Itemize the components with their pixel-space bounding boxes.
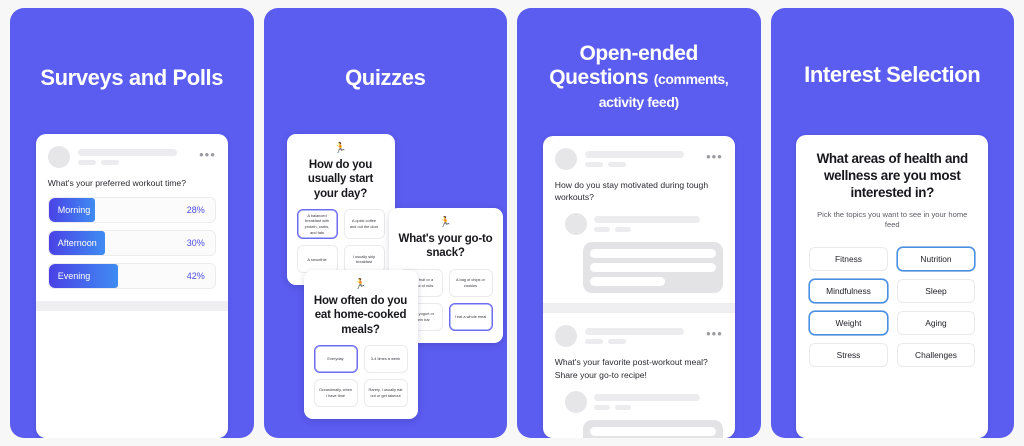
skeleton-name: [594, 394, 700, 401]
interest-chip-weight[interactable]: Weight: [809, 311, 888, 335]
quiz-option[interactable]: Rarely, I usually eat out or get takeout: [364, 379, 408, 407]
poll-options: Morning 28% Afternoon 30% Evening 42%: [36, 189, 228, 301]
poll-option-percent: 28%: [187, 205, 215, 215]
comment-header: [565, 391, 723, 413]
runner-icon: 🏃: [314, 280, 408, 290]
skeleton-text-line: [590, 249, 716, 258]
skeleton-tag: [615, 227, 631, 232]
skeleton-tags: [594, 405, 723, 410]
poll-option-label: Afternoon: [49, 238, 97, 248]
skeleton-tag: [615, 405, 631, 410]
survey-phone-mock: ••• What's your preferred workout time? …: [36, 134, 228, 438]
panel-title-quizzes: Quizzes: [337, 66, 433, 91]
comment-meta: [594, 216, 723, 232]
comment-header: [565, 213, 723, 235]
interest-chip-mindfulness[interactable]: Mindfulness: [809, 279, 888, 303]
poll-option-percent: 30%: [187, 238, 215, 248]
quiz-options: A balanced breakfast with protein, carbs…: [297, 209, 385, 274]
interest-chip-stress[interactable]: Stress: [809, 343, 888, 367]
feed-divider: [36, 301, 228, 311]
skeleton-text-line: [590, 263, 716, 272]
skeleton-name: [78, 149, 178, 156]
quiz-option[interactable]: A bag of chips or cookies: [449, 269, 493, 297]
interest-chip-sleep[interactable]: Sleep: [897, 279, 976, 303]
feed-post: ••• How do you stay motivated during tou…: [543, 136, 735, 303]
post-header: •••: [543, 313, 735, 347]
comment: [543, 381, 735, 438]
skeleton-tag: [585, 162, 603, 167]
skeleton-tags: [78, 160, 191, 165]
panel-interest-selection: Interest Selection What areas of health …: [771, 8, 1015, 438]
avatar: [48, 146, 70, 168]
quiz-option[interactable]: I eat a whole meal: [449, 303, 493, 331]
skeleton-tags: [585, 162, 698, 167]
feed-post: ••• What's your favorite post-workout me…: [543, 313, 735, 438]
quiz-option[interactable]: A quick coffee and out the door: [344, 209, 385, 240]
skeleton-name: [585, 328, 685, 335]
quiz-card[interactable]: 🏃 How often do you eat home-cooked meals…: [304, 270, 418, 419]
feature-showcase-board: Surveys and Polls ••• What's your prefer…: [0, 0, 1024, 446]
post-question: How do you stay motivated during tough w…: [543, 170, 735, 203]
quiz-card[interactable]: 🏃 How do you usually start your day? A b…: [287, 134, 395, 285]
avatar: [565, 213, 587, 235]
post-meta: [585, 151, 698, 167]
skeleton-text-line: [590, 427, 716, 436]
quiz-option[interactable]: 3-4 times a week: [364, 345, 408, 373]
skeleton-tag: [608, 339, 626, 344]
feed-divider: [543, 303, 735, 313]
interest-content: What areas of health and wellness are yo…: [796, 135, 988, 367]
more-options-icon[interactable]: •••: [706, 150, 723, 169]
skeleton-tag: [101, 160, 119, 165]
interest-chip-challenges[interactable]: Challenges: [897, 343, 976, 367]
skeleton-name: [585, 151, 685, 158]
interest-phone-mock: What areas of health and wellness are yo…: [796, 135, 988, 438]
skeleton-tags: [585, 339, 698, 344]
panel-title-open-ended: Open-ended Questions (comments, activity…: [517, 42, 761, 113]
quiz-question: What's your go-to snack?: [399, 232, 493, 261]
post-header: •••: [543, 136, 735, 170]
interest-chip-grid: Fitness Nutrition Mindfulness Sleep Weig…: [809, 247, 975, 367]
comment-meta: [594, 394, 723, 410]
quiz-question: How often do you eat home-cooked meals?: [314, 294, 408, 337]
interest-chip-aging[interactable]: Aging: [897, 311, 976, 335]
quiz-option[interactable]: Occasionally, when I have time: [314, 379, 358, 407]
feed-phone-mock: ••• How do you stay motivated during tou…: [543, 136, 735, 438]
panel-open-ended-questions: Open-ended Questions (comments, activity…: [517, 8, 761, 438]
runner-icon: 🏃: [297, 144, 385, 154]
avatar: [555, 325, 577, 347]
comment: [543, 203, 735, 293]
panel-surveys-and-polls: Surveys and Polls ••• What's your prefer…: [10, 8, 254, 438]
panel-title-line1: Open-ended: [579, 42, 698, 65]
skeleton-tag: [585, 339, 603, 344]
skeleton-tag: [594, 227, 610, 232]
avatar: [565, 391, 587, 413]
post-question: What's your favorite post-workout meal? …: [543, 347, 735, 380]
quiz-options: Everyday 3-4 times a week Occasionally, …: [314, 345, 408, 407]
quiz-option[interactable]: Everyday: [314, 345, 358, 373]
panel-quizzes: Quizzes 🏃 How do you usually start your …: [264, 8, 508, 438]
skeleton-tag: [78, 160, 96, 165]
skeleton-tags: [594, 227, 723, 232]
skeleton-name: [594, 216, 700, 223]
post-header: •••: [36, 134, 228, 168]
panel-title-surveys: Surveys and Polls: [32, 66, 231, 91]
more-options-icon[interactable]: •••: [199, 148, 216, 167]
comment-body: [583, 420, 723, 438]
interest-question: What areas of health and wellness are yo…: [809, 151, 975, 202]
poll-option-row[interactable]: Afternoon 30%: [48, 230, 216, 256]
skeleton-tag: [594, 405, 610, 410]
poll-question: What's your preferred workout time?: [36, 168, 228, 189]
post-meta: [78, 149, 191, 165]
comment-body: [583, 242, 723, 293]
skeleton-text-line: [590, 277, 666, 286]
post-meta: [585, 328, 698, 344]
skeleton-tag: [608, 162, 626, 167]
runner-icon: 🏃: [399, 218, 493, 228]
panel-title-line2: Questions: [549, 66, 648, 89]
quiz-option[interactable]: A balanced breakfast with protein, carbs…: [297, 209, 338, 240]
interest-subtitle: Pick the topics you want to see in your …: [809, 210, 975, 232]
more-options-icon[interactable]: •••: [706, 327, 723, 346]
interest-chip-nutrition[interactable]: Nutrition: [897, 247, 976, 271]
poll-option-label: Morning: [49, 205, 91, 215]
interest-chip-fitness[interactable]: Fitness: [809, 247, 888, 271]
avatar: [555, 148, 577, 170]
quiz-question: How do you usually start your day?: [297, 158, 385, 201]
poll-option-percent: 42%: [187, 271, 215, 281]
poll-option-label: Evening: [49, 271, 91, 281]
poll-option-row[interactable]: Morning 28%: [48, 197, 216, 223]
poll-option-row[interactable]: Evening 42%: [48, 263, 216, 289]
panel-title-interest: Interest Selection: [796, 63, 988, 88]
